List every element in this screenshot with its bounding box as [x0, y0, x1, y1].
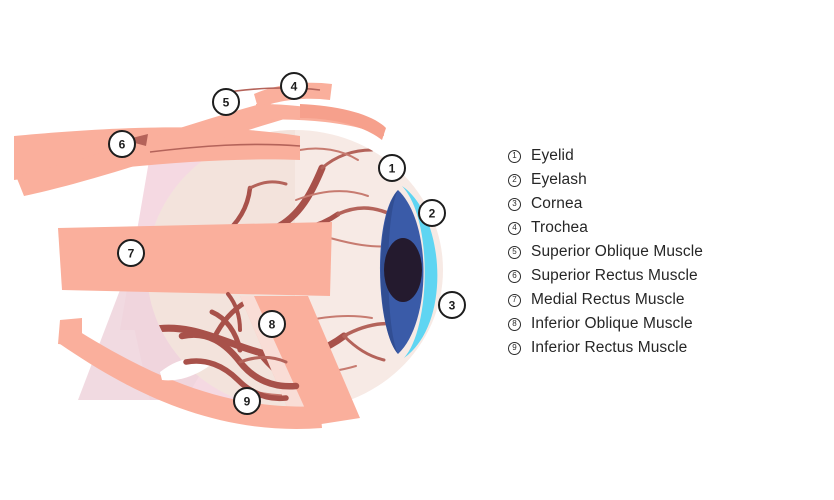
- marker-number-1: 1: [389, 162, 396, 176]
- legend-label-9: Inferior Rectus Muscle: [531, 339, 687, 357]
- inferior-rectus-tip: [58, 318, 82, 346]
- legend-label-2: Eyelash: [531, 171, 587, 189]
- marker-number-3: 3: [449, 299, 456, 313]
- legend-badge-5: 5: [508, 246, 521, 259]
- legend-item-2[interactable]: 2Eyelash: [508, 168, 818, 192]
- eye-anatomy-illustration: 123456789 1Eyelid2Eyelash3Cornea4Trochea…: [0, 0, 834, 500]
- diagram-marker-3[interactable]: 3: [439, 292, 465, 318]
- diagram-marker-2[interactable]: 2: [419, 200, 445, 226]
- legend-label-5: Superior Oblique Muscle: [531, 243, 703, 261]
- legend-label-3: Cornea: [531, 195, 582, 213]
- legend-item-7[interactable]: 7Medial Rectus Muscle: [508, 288, 818, 312]
- legend-item-4[interactable]: 4Trochea: [508, 216, 818, 240]
- legend-label-6: Superior Rectus Muscle: [531, 267, 698, 285]
- diagram-marker-1[interactable]: 1: [379, 155, 405, 181]
- legend-badge-8: 8: [508, 318, 521, 331]
- legend-badge-1: 1: [508, 150, 521, 163]
- legend-item-8[interactable]: 8Inferior Oblique Muscle: [508, 312, 818, 336]
- legend-list: 1Eyelid2Eyelash3Cornea4Trochea5Superior …: [508, 144, 818, 360]
- legend-badge-9: 9: [508, 342, 521, 355]
- diagram-marker-4[interactable]: 4: [281, 73, 307, 99]
- diagram-marker-7[interactable]: 7: [118, 240, 144, 266]
- legend-item-6[interactable]: 6Superior Rectus Muscle: [508, 264, 818, 288]
- legend-badge-4: 4: [508, 222, 521, 235]
- legend-badge-3: 3: [508, 198, 521, 211]
- marker-number-2: 2: [429, 207, 436, 221]
- pupil: [384, 238, 422, 302]
- marker-number-5: 5: [223, 96, 230, 110]
- marker-number-4: 4: [291, 80, 298, 94]
- marker-number-8: 8: [269, 318, 276, 332]
- diagram-marker-8[interactable]: 8: [259, 311, 285, 337]
- legend-label-7: Medial Rectus Muscle: [531, 291, 685, 309]
- legend-item-5[interactable]: 5Superior Oblique Muscle: [508, 240, 818, 264]
- legend-label-1: Eyelid: [531, 147, 574, 165]
- marker-number-7: 7: [128, 247, 135, 261]
- legend-label-4: Trochea: [531, 219, 588, 237]
- medial-rectus-muscle: [58, 222, 332, 296]
- legend-badge-6: 6: [508, 270, 521, 283]
- legend-badge-2: 2: [508, 174, 521, 187]
- legend-label-8: Inferior Oblique Muscle: [531, 315, 693, 333]
- marker-number-6: 6: [119, 138, 126, 152]
- marker-number-9: 9: [244, 395, 251, 409]
- legend-badge-7: 7: [508, 294, 521, 307]
- diagram-marker-5[interactable]: 5: [213, 89, 239, 115]
- diagram-marker-6[interactable]: 6: [109, 131, 135, 157]
- legend-item-1[interactable]: 1Eyelid: [508, 144, 818, 168]
- eye-diagram-canvas: 123456789: [0, 0, 500, 500]
- legend-item-9[interactable]: 9Inferior Rectus Muscle: [508, 336, 818, 360]
- diagram-marker-9[interactable]: 9: [234, 388, 260, 414]
- legend-item-3[interactable]: 3Cornea: [508, 192, 818, 216]
